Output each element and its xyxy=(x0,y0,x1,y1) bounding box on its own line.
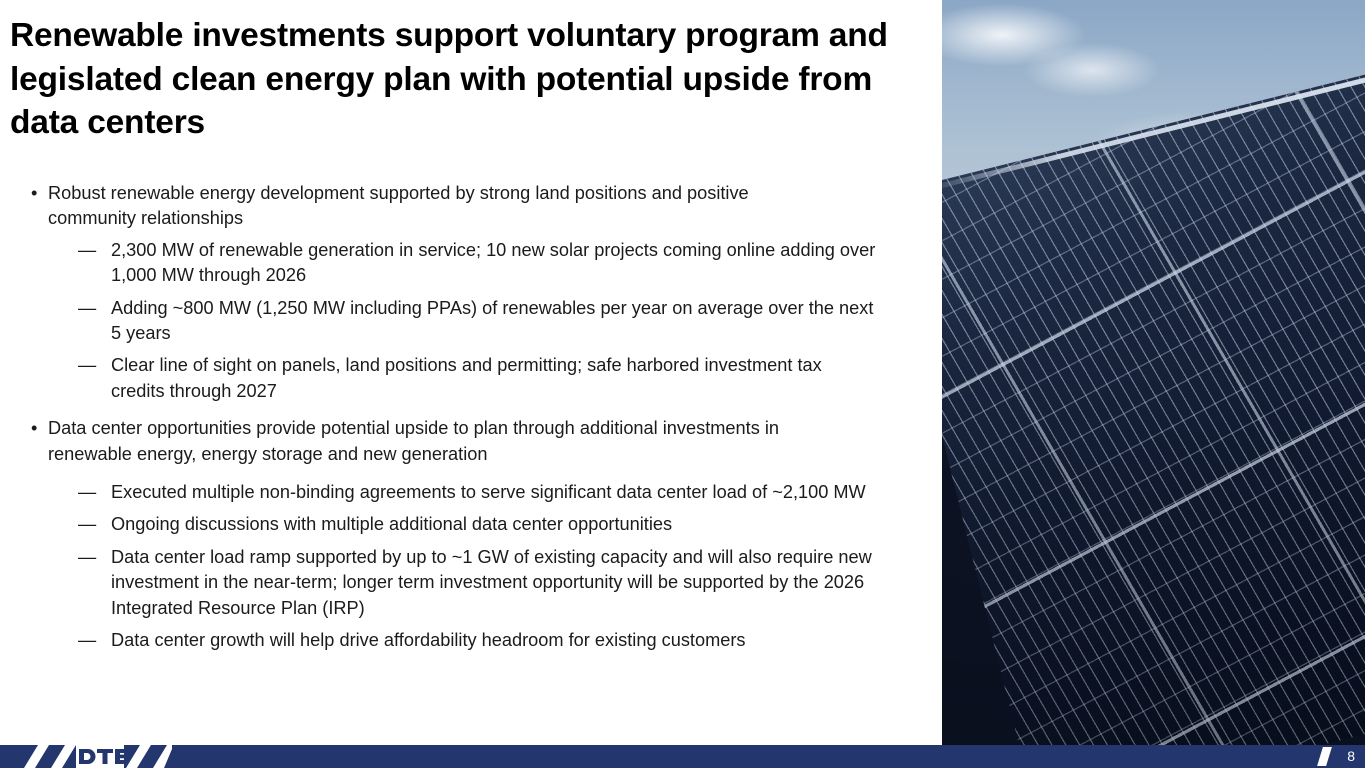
dash-marker-icon: — xyxy=(78,480,96,505)
list-item: — 2,300 MW of renewable generation in se… xyxy=(0,238,880,289)
list-item-text: Data center opportunities provide potent… xyxy=(48,418,779,463)
page-number: 8 xyxy=(1347,745,1355,768)
list-item: — Clear line of sight on panels, land po… xyxy=(0,353,880,404)
bullet-marker-icon: • xyxy=(31,416,37,441)
list-item-text: Clear line of sight on panels, land posi… xyxy=(111,355,822,400)
list-item: — Adding ~800 MW (1,250 MW including PPA… xyxy=(0,296,880,347)
dash-marker-icon: — xyxy=(78,238,96,263)
page-title: Renewable investments support voluntary … xyxy=(10,14,905,145)
list-item: • Robust renewable energy development su… xyxy=(0,181,835,232)
dash-marker-icon: — xyxy=(78,628,96,653)
dash-marker-icon: — xyxy=(78,296,96,321)
bullet-list: • Robust renewable energy development su… xyxy=(0,181,900,661)
page-slash-icon xyxy=(1317,747,1332,766)
dash-marker-icon: — xyxy=(78,512,96,537)
dash-marker-icon: — xyxy=(78,353,96,378)
list-item: — Ongoing discussions with multiple addi… xyxy=(0,512,880,537)
dte-logo xyxy=(0,745,175,768)
list-item-text: Executed multiple non-binding agreements… xyxy=(111,482,866,502)
list-item-text: 2,300 MW of renewable generation in serv… xyxy=(111,240,875,285)
list-item-text: Ongoing discussions with multiple additi… xyxy=(111,514,672,534)
slide: Renewable investments support voluntary … xyxy=(0,0,1365,768)
list-item: • Data center opportunities provide pote… xyxy=(0,416,835,467)
list-item-text: Robust renewable energy development supp… xyxy=(48,183,749,228)
list-item: — Executed multiple non-binding agreemen… xyxy=(0,480,880,505)
solar-panel-photo xyxy=(942,0,1365,748)
list-item: — Data center load ramp supported by up … xyxy=(0,545,880,621)
list-item-text: Adding ~800 MW (1,250 MW including PPAs)… xyxy=(111,298,873,343)
footer-bar: 8 xyxy=(0,745,1365,768)
dte-logo-mark xyxy=(0,745,172,768)
list-item: — Data center growth will help drive aff… xyxy=(0,628,880,653)
dash-marker-icon: — xyxy=(78,545,96,570)
bullet-marker-icon: • xyxy=(31,181,37,206)
list-item-text: Data center load ramp supported by up to… xyxy=(111,547,872,618)
list-item-text: Data center growth will help drive affor… xyxy=(111,630,746,650)
